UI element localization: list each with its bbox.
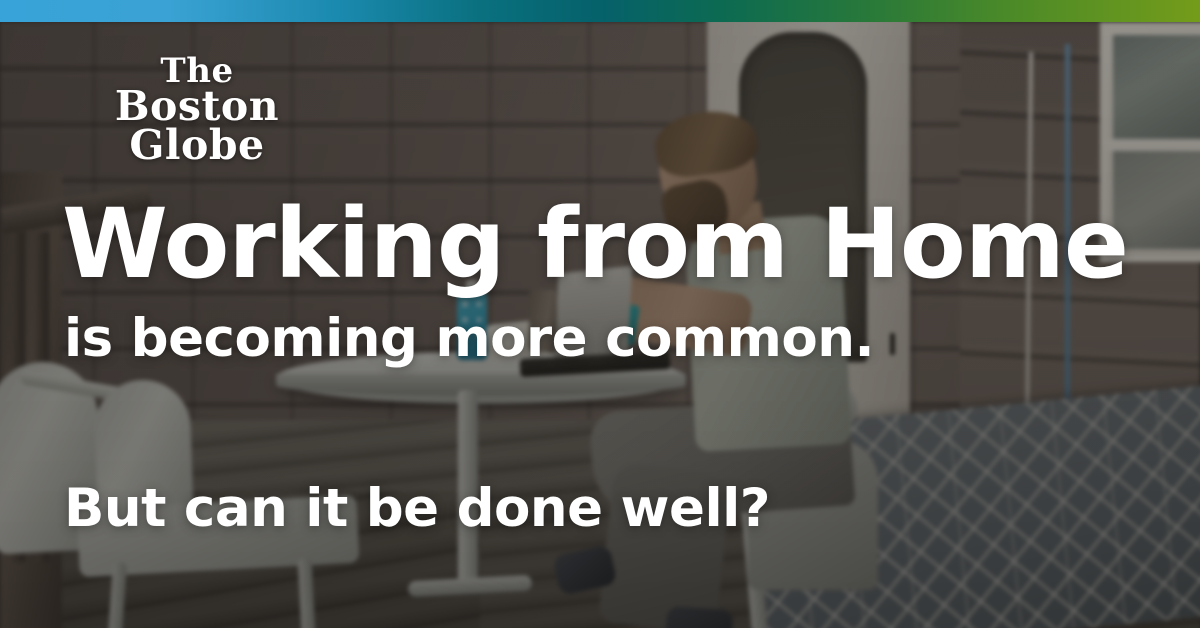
social-promo-card: The Boston Globe Working from Home is be… (0, 0, 1200, 628)
brand-gradient-bar (0, 0, 1200, 22)
promo-question-line: But can it be done well? (64, 482, 770, 535)
promo-content: The Boston Globe Working from Home is be… (0, 0, 1200, 628)
promo-headline: Working from Home (62, 196, 1128, 292)
boston-globe-logo: The Boston Globe (92, 55, 302, 165)
logo-line-globe: Globe (92, 126, 302, 165)
promo-subheadline: is becoming more common. (64, 312, 874, 365)
